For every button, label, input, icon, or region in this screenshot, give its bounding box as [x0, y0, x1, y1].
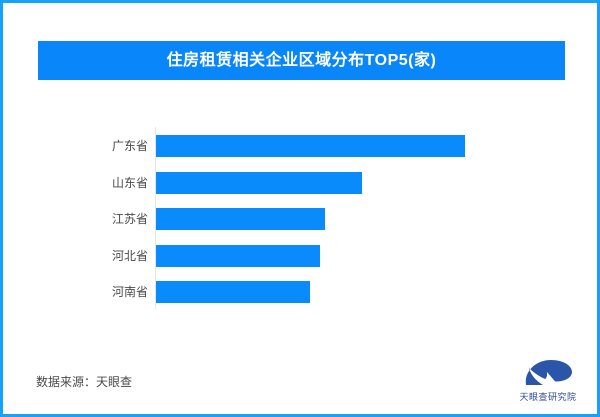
brand-logo-caption: 天眼查研究院: [508, 390, 588, 403]
data-source-note: 数据来源：天眼查: [36, 373, 132, 390]
infographic-card: 住房租赁相关企业区域分布TOP5(家) 广东省 山东省 江苏省 河北省 河南省 …: [0, 0, 600, 417]
chart-row: 山东省: [3, 172, 600, 194]
bar-segment: [156, 172, 362, 194]
chart-row: 广东省: [3, 135, 600, 157]
chart-row: 江苏省: [3, 208, 600, 230]
bar-category-label: 河南省: [3, 281, 148, 303]
bar-chart-plot-area: 广东省 山东省 江苏省 河北省 河南省: [3, 121, 600, 316]
bar-category-label: 河北省: [3, 245, 148, 267]
tianyancha-eye-icon: [522, 359, 574, 389]
bar-segment: [156, 245, 320, 267]
chart-row: 河北省: [3, 245, 600, 267]
bar-segment: [156, 208, 325, 230]
bar-segment: [156, 281, 310, 303]
bar-category-label: 江苏省: [3, 208, 148, 230]
page-title: 住房租赁相关企业区域分布TOP5(家): [167, 53, 437, 69]
chart-row: 河南省: [3, 281, 600, 303]
bar-category-label: 广东省: [3, 135, 148, 157]
bar-segment: [156, 135, 465, 157]
chart-title-band: 住房租赁相关企业区域分布TOP5(家): [38, 41, 565, 80]
bar-category-label: 山东省: [3, 172, 148, 194]
brand-logo: 天眼查研究院: [508, 359, 588, 407]
